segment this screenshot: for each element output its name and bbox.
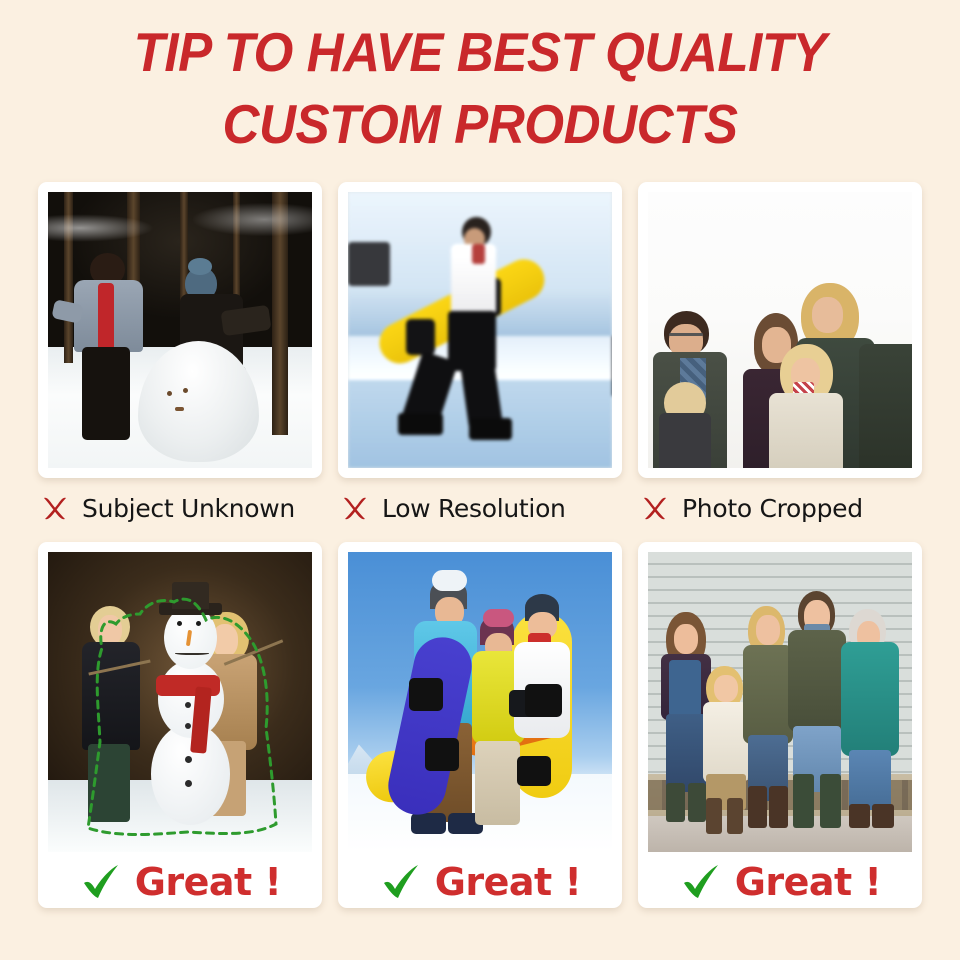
photo-two-women-snowman-with-selection-outline <box>48 552 312 852</box>
verdict-label: Subject Unknown <box>82 494 295 523</box>
check-mark-icon <box>379 860 423 904</box>
photo-card: Great ! <box>338 542 622 908</box>
verdict-row: Subject Unknown <box>38 488 322 528</box>
verdict-label: Great ! <box>735 860 882 904</box>
x-mark-icon <box>640 493 670 523</box>
verdict-row: Photo Cropped <box>638 488 922 528</box>
verdict-row: Great ! <box>648 852 912 912</box>
check-mark-icon <box>79 860 123 904</box>
verdict-row: Great ! <box>348 852 612 912</box>
verdict-label: Photo Cropped <box>682 494 863 523</box>
example-card-bad-2: Low Resolution <box>338 182 622 528</box>
example-card-bad-3: Photo Cropped <box>638 182 922 528</box>
verdict-row: Low Resolution <box>338 488 622 528</box>
x-mark-icon <box>40 493 70 523</box>
photo-card <box>338 182 622 478</box>
photo-card: Great ! <box>638 542 922 908</box>
photo-pixelated-snowboarder-yellow-board <box>348 192 612 468</box>
photo-card <box>638 182 922 478</box>
example-card-good-2: Great ! <box>338 542 622 908</box>
example-card-bad-1: Subject Unknown <box>38 182 322 528</box>
verdict-label: Great ! <box>435 860 582 904</box>
photo-card <box>38 182 322 478</box>
verdict-label: Great ! <box>135 860 282 904</box>
page-title-line-1: TIP TO HAVE BEST QUALITY <box>34 16 927 88</box>
photo-card: Great ! <box>38 542 322 908</box>
verdict-label: Low Resolution <box>382 494 566 523</box>
example-card-good-3: Great ! <box>638 542 922 908</box>
photo-family-group-cropped-white-sky <box>648 192 912 468</box>
photo-family-five-barn-wall <box>648 552 912 852</box>
example-card-good-1: Great ! <box>38 542 322 908</box>
verdict-row: Great ! <box>48 852 312 912</box>
page-title: TIP TO HAVE BEST QUALITY CUSTOM PRODUCTS <box>0 16 960 160</box>
selection-outline <box>48 552 312 852</box>
photo-two-women-building-snowman-dark-forest <box>48 192 312 468</box>
x-mark-icon <box>340 493 370 523</box>
photo-three-snowboarders-blue-sky <box>348 552 612 852</box>
examples-grid: Subject Unknown <box>38 182 922 908</box>
page-title-line-2: CUSTOM PRODUCTS <box>34 88 927 160</box>
tip-poster: TIP TO HAVE BEST QUALITY CUSTOM PRODUCTS <box>0 0 960 960</box>
check-mark-icon <box>679 860 723 904</box>
